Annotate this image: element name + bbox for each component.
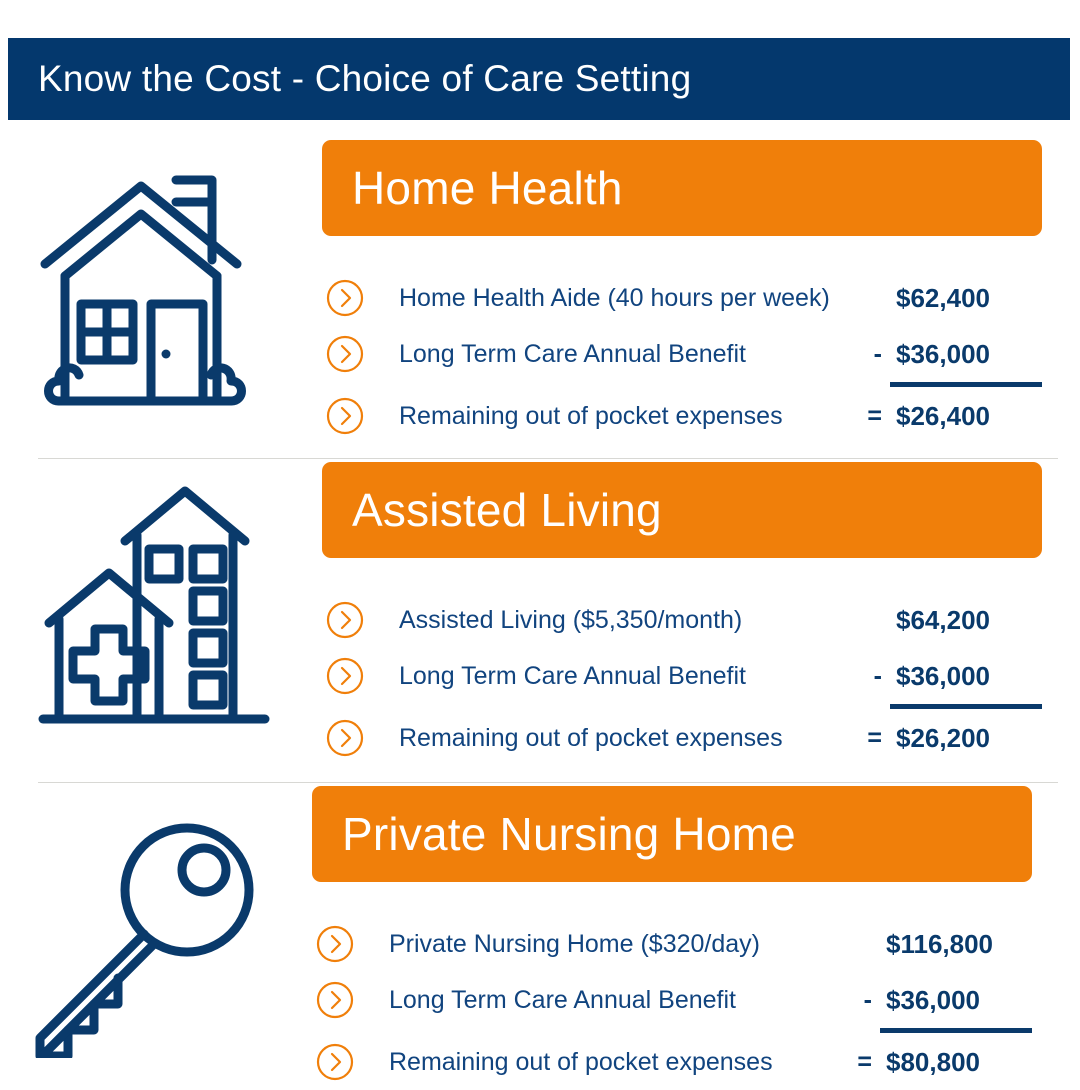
cost-row-operator: = <box>852 402 882 431</box>
chevron-right-circle-icon[interactable] <box>325 278 365 318</box>
cost-row-label: Remaining out of pocket expenses <box>399 724 852 753</box>
house-icon <box>18 148 300 418</box>
chevron-right-circle-icon[interactable] <box>325 334 365 374</box>
section-title-band: Private Nursing Home <box>312 786 1032 882</box>
chevron-right-circle-icon[interactable] <box>315 924 355 964</box>
cost-row-operator: = <box>852 724 882 753</box>
section-divider <box>38 458 1058 459</box>
section-content: Assisted Living Assisted Living ($5,350/… <box>322 462 1062 766</box>
cost-rows: Home Health Aide (40 hours per week) $62… <box>322 270 1042 444</box>
cost-row-label: Long Term Care Annual Benefit <box>399 662 852 691</box>
section-title-band: Assisted Living <box>322 462 1042 558</box>
key-icon <box>6 798 288 1068</box>
section-title: Private Nursing Home <box>342 811 796 857</box>
cost-row-label: Long Term Care Annual Benefit <box>389 986 842 1015</box>
section-divider <box>38 782 1058 783</box>
section-content: Home Health Home Health Aide (40 hours p… <box>322 140 1062 444</box>
cost-row-amount: $36,000 <box>872 985 1032 1016</box>
cost-row-amount: $26,200 <box>882 723 1042 754</box>
cost-row-label: Assisted Living ($5,350/month) <box>399 606 852 635</box>
sum-rule <box>880 1028 1032 1033</box>
section-title: Assisted Living <box>352 487 662 533</box>
cost-row-operator: - <box>852 662 882 691</box>
cost-row-operator: = <box>842 1048 872 1077</box>
cost-row-label: Remaining out of pocket expenses <box>389 1048 842 1077</box>
chevron-right-circle-icon[interactable] <box>325 600 365 640</box>
page-title: Know the Cost - Choice of Care Setting <box>8 58 691 100</box>
sum-rule <box>890 704 1042 709</box>
cost-row-amount: $80,800 <box>872 1047 1032 1078</box>
cost-rows: Assisted Living ($5,350/month) $64,200 L… <box>322 592 1042 766</box>
cost-row-total: Remaining out of pocket expenses = $80,8… <box>312 1034 1032 1090</box>
cost-rows: Private Nursing Home ($320/day) $116,800… <box>312 916 1032 1090</box>
cost-row: Long Term Care Annual Benefit - $36,000 <box>312 972 1032 1028</box>
chevron-right-circle-icon[interactable] <box>325 656 365 696</box>
cost-row-label: Remaining out of pocket expenses <box>399 402 852 431</box>
cost-row-label: Private Nursing Home ($320/day) <box>389 930 842 959</box>
cost-row-amount: $36,000 <box>882 661 1042 692</box>
care-setting-section-assisted-living: Assisted Living Assisted Living ($5,350/… <box>0 462 1080 780</box>
section-content: Private Nursing Home Private Nursing Hom… <box>312 786 1052 1090</box>
cost-row-operator: - <box>842 986 872 1015</box>
cost-row: Long Term Care Annual Benefit - $36,000 <box>322 648 1042 704</box>
cost-row: Private Nursing Home ($320/day) $116,800 <box>312 916 1032 972</box>
cost-row-label: Home Health Aide (40 hours per week) <box>399 284 852 313</box>
section-title: Home Health <box>352 165 623 211</box>
page-header-bar: Know the Cost - Choice of Care Setting <box>8 38 1070 120</box>
cost-row-label: Long Term Care Annual Benefit <box>399 340 852 369</box>
cost-row-total: Remaining out of pocket expenses = $26,4… <box>322 388 1042 444</box>
cost-row-amount: $62,400 <box>882 283 1042 314</box>
cost-row-operator: - <box>852 340 882 369</box>
cost-row-amount: $36,000 <box>882 339 1042 370</box>
cost-row: Assisted Living ($5,350/month) $64,200 <box>322 592 1042 648</box>
cost-row-amount: $26,400 <box>882 401 1042 432</box>
chevron-right-circle-icon[interactable] <box>315 980 355 1020</box>
sum-rule <box>890 382 1042 387</box>
section-title-band: Home Health <box>322 140 1042 236</box>
cost-row: Long Term Care Annual Benefit - $36,000 <box>322 326 1042 382</box>
care-setting-section-private-nursing-home: Private Nursing Home Private Nursing Hom… <box>0 786 1080 1080</box>
assisted-living-building-icon <box>18 470 300 740</box>
cost-row: Home Health Aide (40 hours per week) $62… <box>322 270 1042 326</box>
care-setting-section-home-health: Home Health Home Health Aide (40 hours p… <box>0 140 1080 456</box>
chevron-right-circle-icon[interactable] <box>315 1042 355 1082</box>
chevron-right-circle-icon[interactable] <box>325 718 365 758</box>
chevron-right-circle-icon[interactable] <box>325 396 365 436</box>
cost-row-amount: $64,200 <box>882 605 1042 636</box>
cost-row-amount: $116,800 <box>872 929 1032 960</box>
cost-row-total: Remaining out of pocket expenses = $26,2… <box>322 710 1042 766</box>
